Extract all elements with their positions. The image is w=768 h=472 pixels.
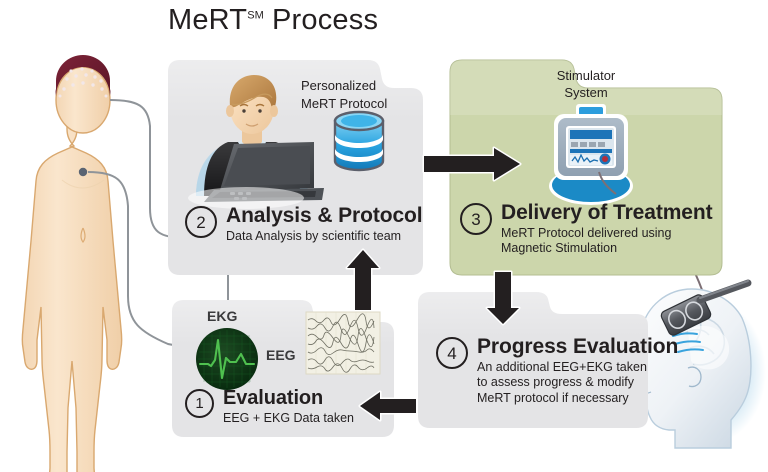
- eeg-chart-icon: [306, 312, 380, 374]
- arrow-step2-to-step3: [420, 146, 526, 182]
- step-4-heading: Progress Evaluation: [477, 336, 678, 358]
- panel-step-2[interactable]: Personalized MeRT Protocol 2 Analysis & …: [168, 60, 423, 275]
- step-2-heading: Analysis & Protocol: [226, 205, 422, 227]
- step-3-subtext-line1: MeRT Protocol delivered using: [501, 226, 712, 241]
- stimulator-system-icon: [536, 102, 646, 210]
- step-2-caption-line2: MeRT Protocol: [301, 95, 416, 113]
- arrow-step3-to-step4: [484, 268, 522, 328]
- step-3-subtext-line2: Magnetic Stimulation: [501, 241, 712, 256]
- diagram-canvas: MeRTSM Process: [0, 0, 768, 472]
- patient-body-diagram: [22, 55, 122, 472]
- step-2-caption-line1: Personalized: [301, 77, 416, 95]
- step-3-label: 3 Delivery of Treatment MeRT Protocol de…: [460, 202, 712, 257]
- step-3-heading: Delivery of Treatment: [501, 202, 712, 224]
- step-2-caption: Personalized MeRT Protocol: [301, 77, 416, 112]
- eeg-label: EEG: [266, 347, 296, 363]
- arrow-step4-to-step1: [356, 389, 420, 423]
- step-4-label: 4 Progress Evaluation An additional EEG+…: [436, 336, 678, 406]
- step-2-label: 2 Analysis & Protocol Data Analysis by s…: [185, 205, 422, 244]
- arrow-step1-to-step2: [344, 244, 382, 314]
- step-1-label: 1 Evaluation EEG + EKG Data taken: [185, 388, 354, 426]
- step-3-number: 3: [460, 203, 492, 235]
- step-3-caption-line2: System: [516, 85, 656, 102]
- step-2-number: 2: [185, 206, 217, 238]
- ekg-label: EKG: [207, 308, 237, 324]
- database-icon: [331, 108, 387, 174]
- step-4-subtext-line2: to assess progress & modify: [477, 375, 678, 390]
- step-4-subtext-line3: MeRT protocol if necessary: [477, 391, 678, 406]
- step-1-subtext: EEG + EKG Data taken: [223, 411, 354, 426]
- step-3-caption: Stimulator System: [516, 68, 656, 102]
- step-1-heading: Evaluation: [223, 388, 354, 409]
- step-4-number: 4: [436, 337, 468, 369]
- step-3-caption-line1: Stimulator: [516, 68, 656, 85]
- ekg-monitor-icon: [196, 328, 258, 390]
- step-4-subtext-line1: An additional EEG+EKG taken: [477, 360, 678, 375]
- ekg-electrode: [79, 168, 87, 176]
- step-1-number: 1: [185, 389, 214, 418]
- panel-step-4[interactable]: 4 Progress Evaluation An additional EEG+…: [418, 292, 648, 428]
- step-2-subtext: Data Analysis by scientific team: [226, 229, 422, 244]
